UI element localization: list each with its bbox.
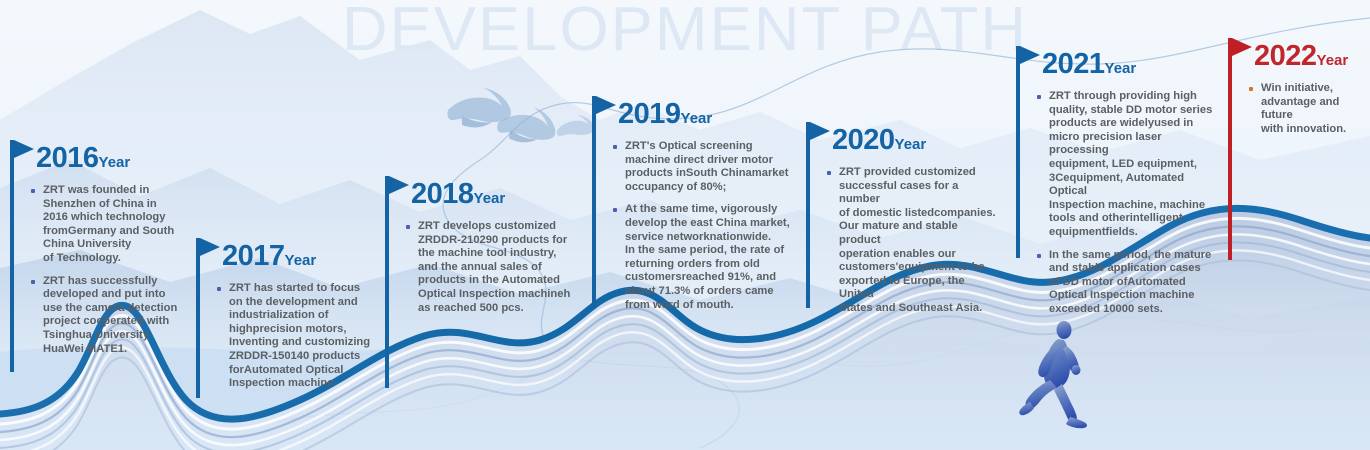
milestone-bullet-list: ZRT's Optical screening machine direct d…: [612, 140, 792, 321]
milestone-bullet-list: ZRT through providing high quality, stab…: [1036, 90, 1216, 326]
milestone-bullet: ZRT develops customized ZRDDR-210290 pro…: [405, 220, 580, 315]
milestone-pole: [1016, 46, 1020, 258]
milestone-bullet: ZRT through providing high quality, stab…: [1036, 90, 1216, 240]
milestone-bullet-text: ZRT through providing high quality, stab…: [1049, 90, 1216, 240]
milestone-year-heading: 2019Year: [618, 100, 712, 129]
milestone-year-number: 2020: [832, 124, 895, 156]
milestone-bullet-list: ZRT has started to focus on the developm…: [216, 282, 381, 400]
milestone-year-number: 2018: [411, 178, 474, 210]
milestone-flag-icon: [200, 238, 220, 256]
milestone-bullet-text: ZRT has started to focus on the developm…: [229, 282, 381, 391]
milestone-year-heading: 2022Year: [1254, 42, 1348, 71]
milestone-bullet-list: ZRT develops customized ZRDDR-210290 pro…: [405, 220, 580, 324]
milestone-bullet: ZRT provided customized successful cases…: [826, 166, 1001, 316]
milestone-pole: [385, 176, 389, 388]
milestone-year-suffix: Year: [1105, 60, 1137, 77]
milestone-pole: [10, 140, 14, 372]
milestone-year-suffix: Year: [895, 136, 927, 153]
milestone-year-heading: 2016Year: [36, 144, 130, 173]
milestone-flag-icon: [1020, 46, 1040, 64]
milestone-year-number: 2022: [1254, 40, 1317, 72]
milestone-year-heading: 2021Year: [1042, 50, 1136, 79]
dove-icon: [447, 88, 511, 127]
page-title: DEVELOPMENT PATH: [0, 0, 1370, 65]
milestone-year-number: 2017: [222, 240, 285, 272]
milestone-bullet-list: ZRT was founded in Shenzhen of China in …: [30, 184, 195, 365]
milestone-bullet-text: ZRT's Optical screening machine direct d…: [625, 140, 792, 194]
milestone-year-number: 2019: [618, 98, 681, 130]
dove-icon: [495, 103, 558, 147]
milestone-bullet-text: In the same period, the mature and stabl…: [1049, 249, 1216, 317]
milestone-year-suffix: Year: [285, 252, 317, 269]
milestone-year-heading: 2018Year: [411, 180, 505, 209]
milestone-year-suffix: Year: [99, 154, 131, 171]
milestone-bullet-text: ZRT was founded in Shenzhen of China in …: [43, 184, 195, 266]
milestone-bullet-text: ZRT provided customized successful cases…: [839, 166, 1001, 316]
milestone-bullet: In the same period, the mature and stabl…: [1036, 249, 1216, 317]
milestone-bullet: At the same time, vigorously develop the…: [612, 203, 792, 312]
milestone-flag-icon: [596, 96, 616, 114]
milestone-pole: [196, 238, 200, 398]
milestone-bullet: ZRT was founded in Shenzhen of China in …: [30, 184, 195, 266]
milestone-bullet: ZRT has successfully developed and put i…: [30, 275, 195, 357]
milestone-flag-icon: [810, 122, 830, 140]
milestone-year-suffix: Year: [681, 110, 713, 127]
dove-icon: [555, 113, 595, 137]
milestone-year-suffix: Year: [1317, 52, 1349, 69]
milestone-year-number: 2021: [1042, 48, 1105, 80]
milestone-flag-icon: [389, 176, 409, 194]
milestone-year-suffix: Year: [474, 190, 506, 207]
milestone-bullet-text: At the same time, vigorously develop the…: [625, 203, 792, 312]
milestone-bullet-text: ZRT has successfully developed and put i…: [43, 275, 195, 357]
infographic-canvas: DEVELOPMENT PATH: [0, 0, 1370, 450]
milestone-flag-icon: [1232, 38, 1252, 56]
milestone-bullet: ZRT has started to focus on the developm…: [216, 282, 381, 391]
milestone-pole: [592, 96, 596, 308]
milestone-bullet: Win initiative, advantage and future wit…: [1248, 82, 1358, 136]
milestone-bullet-list: Win initiative, advantage and future wit…: [1248, 82, 1358, 145]
milestone-bullet-text: Win initiative, advantage and future wit…: [1261, 82, 1358, 136]
milestone-flag-icon: [14, 140, 34, 158]
milestone-pole: [806, 122, 810, 308]
milestone-pole: [1228, 38, 1232, 260]
milestone-year-heading: 2017Year: [222, 242, 316, 271]
milestone-bullet-text: ZRT develops customized ZRDDR-210290 pro…: [418, 220, 580, 315]
milestone-bullet-list: ZRT provided customized successful cases…: [826, 166, 1001, 325]
milestone-bullet: ZRT's Optical screening machine direct d…: [612, 140, 792, 194]
milestone-year-heading: 2020Year: [832, 126, 926, 155]
milestone-year-number: 2016: [36, 142, 99, 174]
runner-silhouette-icon: [1010, 318, 1100, 430]
